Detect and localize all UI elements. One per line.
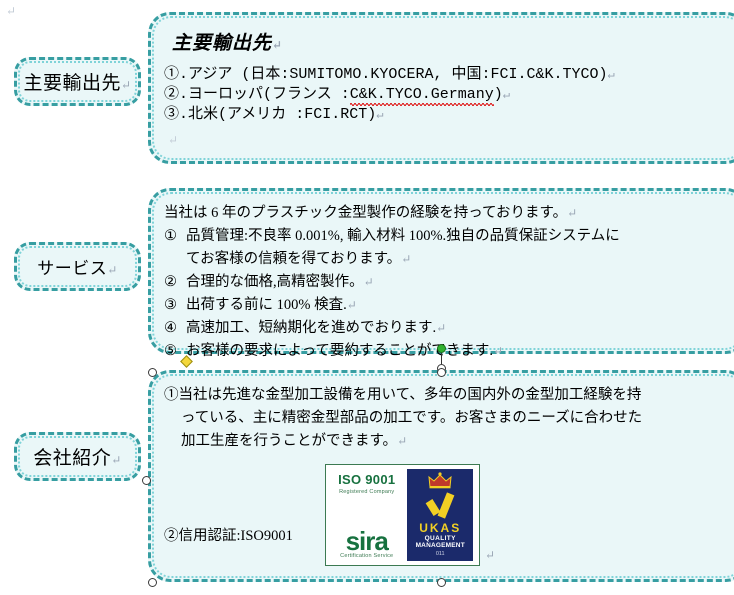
paragraph-line: ①当社は先進な金型加工設備を用いて、多年の国内外の金型加工経験を持 (164, 384, 734, 407)
certificate-paragraph-mark: ↵ (485, 546, 495, 564)
iso-subtitle: Registered Company (338, 489, 395, 495)
label-shape-service[interactable]: サービス↵ (14, 242, 141, 291)
sira-subtitle: Certification Service (340, 553, 393, 559)
resize-handle-company-bottomleft[interactable] (148, 578, 157, 587)
rotate-handle-service[interactable] (437, 344, 446, 364)
sira-wordmark: sira (340, 529, 393, 553)
ukas-block: UKAS QUALITY MANAGEMENT 011 (407, 469, 473, 561)
ukas-line-2: MANAGEMENT (416, 542, 465, 549)
paragraph-line: 加工生産を行うことができます。↵ (164, 430, 734, 453)
document-canvas: ↵ 主要輸出先↵ サービス↵ 会社紹介↵ 主要輸出先↵ ①.アジア (日本:SU… (0, 0, 734, 595)
label-text: 会社紹介↵ (33, 443, 122, 470)
export-list: ①.アジア (日本:SUMITOMO.KYOCERA, 中国:FCI.C&K.T… (164, 65, 734, 125)
ukas-accreditation-number: 011 (436, 551, 445, 557)
resize-handle-company-top[interactable] (437, 368, 446, 377)
resize-handle-company-topleft[interactable] (148, 368, 157, 377)
label-text: サービス↵ (37, 254, 118, 279)
ukas-line-1: QUALITY (425, 535, 456, 542)
list-item: ③ 出荷する前に 100% 検査.↵ (164, 294, 734, 317)
resize-handle-company-bottom[interactable] (437, 578, 446, 587)
trailing-paragraph-mark: ↵ (168, 131, 734, 149)
list-item: ①.アジア (日本:SUMITOMO.KYOCERA, 中国:FCI.C&K.T… (164, 65, 734, 85)
paragraph-line: っている、主に精密金型部品の加工です。お客さまのニーズに合わせた (164, 407, 734, 430)
crown-icon (428, 472, 452, 492)
resize-handle-company-left[interactable] (142, 476, 151, 485)
list-item: ④ 高速加工、短納期化を進めでおります.↵ (164, 317, 734, 340)
label-shape-company-profile[interactable]: 会社紹介↵ (14, 432, 141, 481)
list-item: ⑤ お客様の要求によって要約することができます.↵ (164, 340, 734, 363)
label-text: 主要輸出先↵ (23, 68, 131, 95)
list-item: ② 合理的な価格,高精密製作。↵ (164, 271, 734, 294)
list-item: ②.ヨーロッパ(フランス :C&K.TYCO.Germany)↵ (164, 85, 734, 105)
spellcheck-error: C&K.TYCO.Germany (350, 86, 494, 106)
iso9001-ukas-certificate-image[interactable]: ISO 9001 Registered Company sira Certifi… (325, 464, 480, 566)
ukas-wordmark: UKAS (419, 521, 461, 535)
iso-title: ISO 9001 (338, 472, 395, 487)
list-item: ③.北米(アメリカ :FCI.RCT)↵ (164, 105, 734, 125)
callout-heading: 主要輸出先↵ (172, 28, 734, 55)
list-item: ① 品質管理:不良率 0.001%, 輸入材料 100%.独自の品質保証システム… (164, 225, 734, 248)
paragraph-mark-top: ↵ (6, 2, 16, 20)
label-shape-export-destinations[interactable]: 主要輸出先↵ (14, 57, 141, 106)
sira-iso-block: ISO 9001 Registered Company sira Certifi… (326, 465, 407, 565)
crown-icon-svg (428, 472, 452, 489)
callout-export-destinations[interactable]: 主要輸出先↵ ①.アジア (日本:SUMITOMO.KYOCERA, 中国:FC… (148, 12, 734, 164)
checkmark-icon (423, 493, 457, 519)
list-item-continuation: てお客様の信頼を得ております。↵ (164, 248, 734, 271)
callout-service[interactable]: 当社は 6 年のプラスチック金型製作の経験を持っております。↵ ① 品質管理:不… (148, 188, 734, 354)
callout-body: 主要輸出先↵ ①.アジア (日本:SUMITOMO.KYOCERA, 中国:FC… (148, 12, 734, 157)
service-intro: 当社は 6 年のプラスチック金型製作の経験を持っております。↵ (164, 202, 734, 225)
